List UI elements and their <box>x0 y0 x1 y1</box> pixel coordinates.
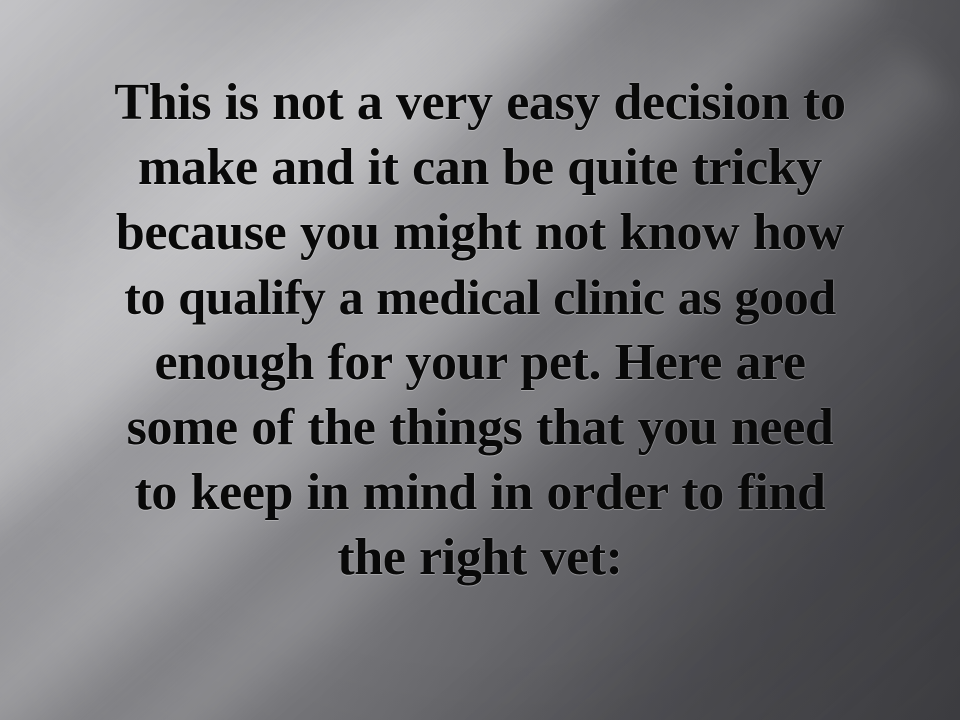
caption-line-4: to qualify a medical clinic as good <box>36 265 924 330</box>
caption-line-7: to keep in mind in order to find <box>36 460 924 525</box>
slide-frame: This is not a very easy decision to make… <box>0 0 960 720</box>
caption-line-8: the right vet: <box>36 525 924 590</box>
slide-caption-text: This is not a very easy decision to make… <box>0 70 960 590</box>
caption-line-2: make and it can be quite tricky <box>36 135 924 200</box>
caption-line-5: enough for your pet. Here are <box>36 330 924 395</box>
caption-line-3: because you might not know how <box>36 200 924 265</box>
caption-line-1: This is not a very easy decision to <box>36 70 924 135</box>
caption-line-6: some of the things that you need <box>36 395 924 460</box>
